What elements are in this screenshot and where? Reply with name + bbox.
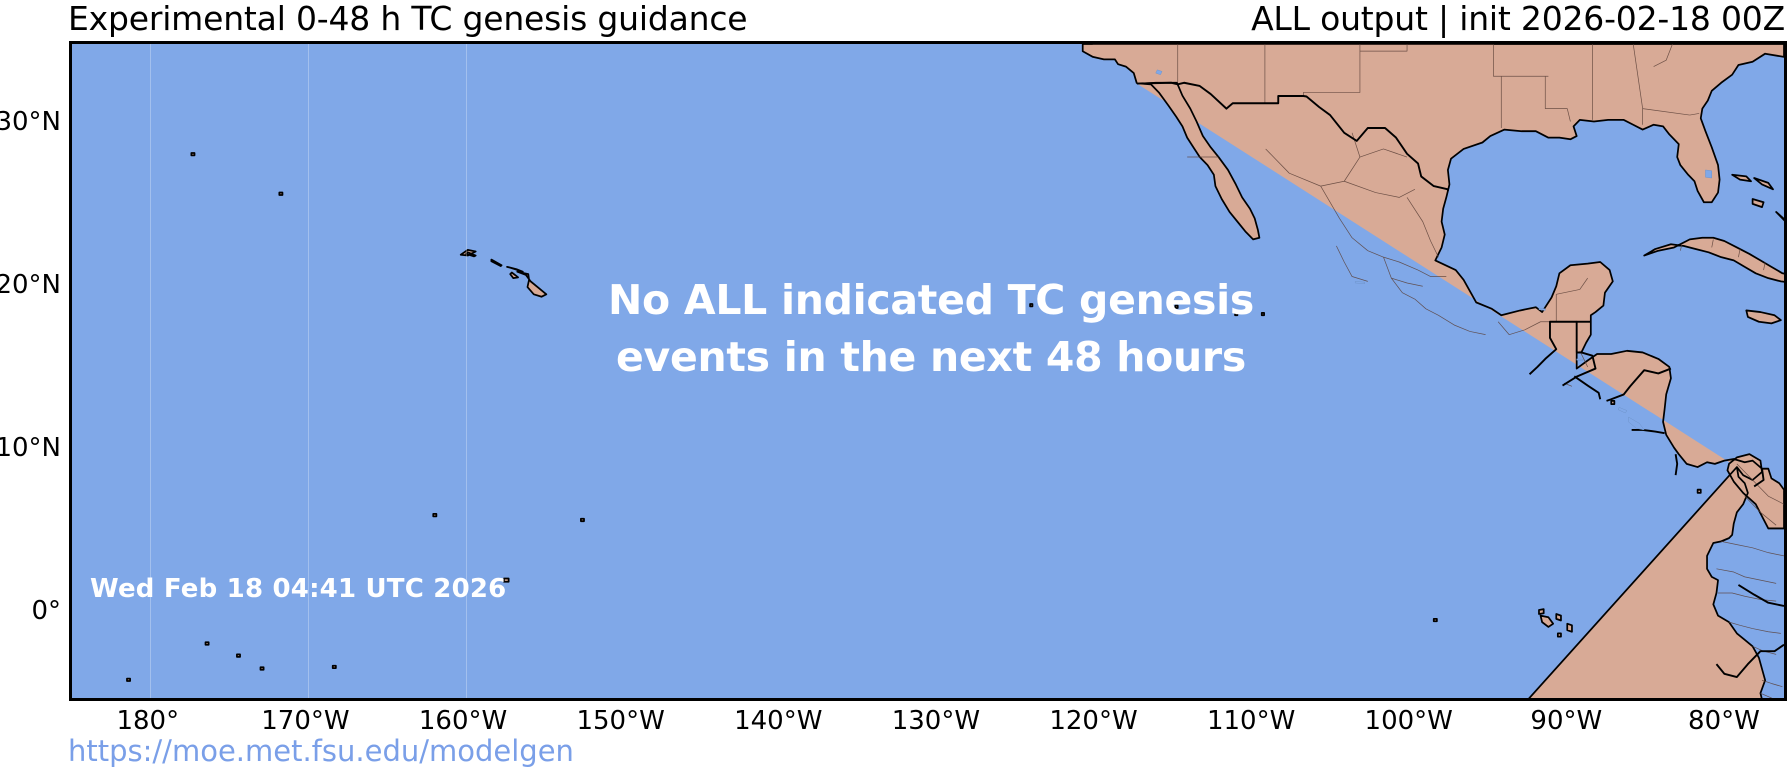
x-tick-label: 100°W: [1365, 706, 1453, 736]
landmass-jamaica: [1746, 310, 1781, 323]
source-url-link[interactable]: https://moe.met.fsu.edu/modelgen: [68, 735, 574, 768]
header-bar: Experimental 0-48 h TC genesis guidance …: [0, 0, 1789, 41]
landmass-hawaii: [461, 250, 547, 297]
y-tick-label: 20°N: [0, 270, 61, 300]
x-tick-label: 120°W: [1049, 706, 1137, 736]
x-tick-label: 150°W: [576, 706, 664, 736]
y-tick-label: 0°: [31, 596, 61, 626]
valid-timestamp: Wed Feb 18 04:41 UTC 2026: [90, 574, 506, 604]
landmass-cuba: [1644, 238, 1784, 285]
x-tick-label: 130°W: [892, 706, 980, 736]
landmass-galapagos: [1539, 609, 1572, 636]
x-tick-label: 80°W: [1688, 706, 1760, 736]
y-tick-label: 30°N: [0, 107, 61, 137]
x-tick-label: 140°W: [734, 706, 822, 736]
x-tick-label: 180°: [116, 706, 179, 736]
page-title: Experimental 0-48 h TC genesis guidance: [68, 0, 747, 38]
landmass-north-america: [1083, 44, 1784, 698]
x-tick-label: 160°W: [419, 706, 507, 736]
map-panel[interactable]: No ALL indicated TC genesis events in th…: [69, 41, 1787, 701]
x-tick-label: 90°W: [1530, 706, 1602, 736]
x-tick-label: 110°W: [1207, 706, 1295, 736]
model-init-label: ALL output | init 2026-02-18 00Z: [1251, 0, 1787, 38]
y-tick-label: 10°N: [0, 433, 61, 463]
x-tick-label: 170°W: [261, 706, 349, 736]
